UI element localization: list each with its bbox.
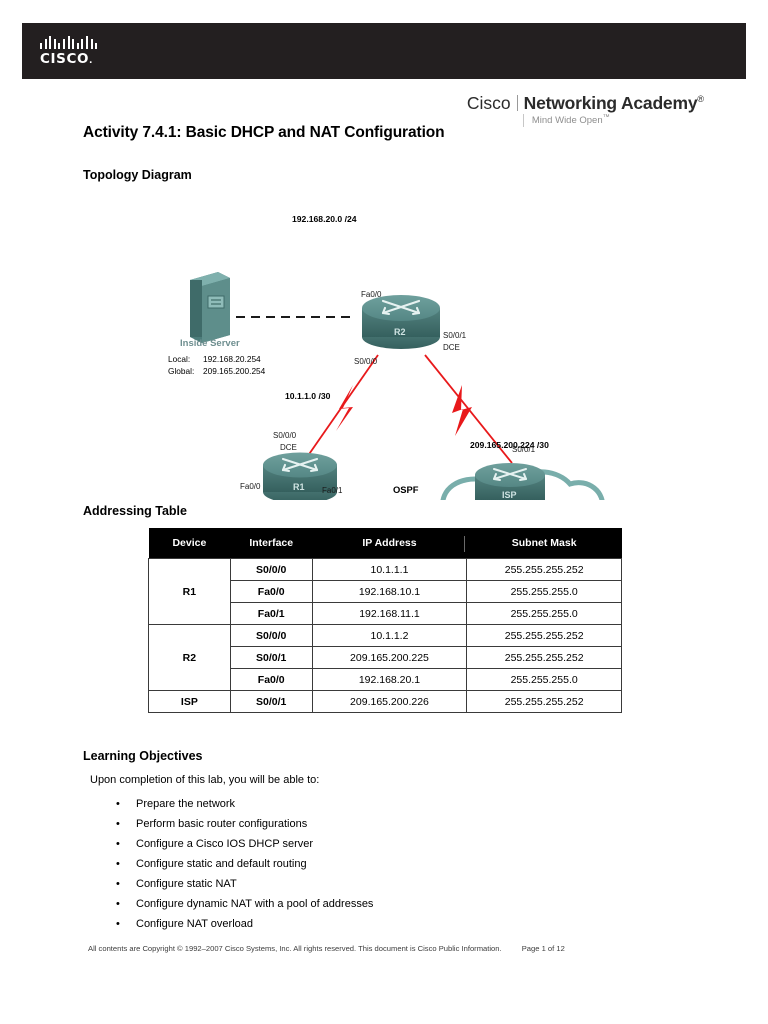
cell-device: R1 — [149, 559, 231, 625]
trademark-mark: ™ — [603, 114, 610, 121]
footer-page-number: Page 1 of 12 — [522, 944, 565, 953]
iface-r2-fa00: Fa0/0 — [361, 290, 382, 299]
cisco-bridge-logo-icon — [40, 36, 102, 49]
cell-ip: 192.168.20.1 — [312, 669, 467, 691]
cell-mask: 255.255.255.252 — [467, 625, 622, 647]
table-row: R2 S0/0/0 10.1.1.2 255.255.255.252 — [149, 625, 622, 647]
cisco-wordmark: CISCO. — [40, 51, 102, 67]
cell-interface: Fa0/1 — [230, 603, 312, 625]
server-local-label: Local: — [168, 354, 190, 364]
iface-r2-s001: S0/0/1 — [443, 331, 467, 340]
iface-r1-s000: S0/0/0 — [273, 431, 297, 440]
cell-interface: S0/0/1 — [230, 647, 312, 669]
footer-copyright: All contents are Copyright © 1992–2007 C… — [88, 944, 502, 953]
cell-interface: Fa0/0 — [230, 581, 312, 603]
cell-ip: 209.165.200.225 — [312, 647, 467, 669]
iface-r2-s001-dce: DCE — [443, 343, 460, 352]
registered-mark: ® — [697, 94, 704, 104]
table-row: R1 S0/0/0 10.1.1.1 255.255.255.252 — [149, 559, 622, 581]
addressing-table: Device Interface IP Address Subnet Mask … — [148, 528, 622, 713]
list-item: Configure dynamic NAT with a pool of add… — [108, 894, 373, 914]
cell-interface: Fa0/0 — [230, 669, 312, 691]
table-header-row: Device Interface IP Address Subnet Mask — [149, 528, 622, 559]
column-header-ip-address: IP Address — [312, 528, 467, 559]
column-header-subnet-mask: Subnet Mask — [467, 528, 622, 559]
lightning-bolt-r1-r2-icon — [336, 385, 353, 431]
device-r2 — [362, 295, 440, 349]
server-global-ip: 209.165.200.254 — [203, 366, 266, 376]
cell-ip: 192.168.10.1 — [312, 581, 467, 603]
cell-mask: 255.255.255.252 — [467, 691, 622, 713]
topology-diagram: Inside Server Local: 192.168.20.254 Glob… — [140, 180, 660, 500]
r1-label: R1 — [293, 482, 305, 492]
list-item: Prepare the network — [108, 794, 373, 814]
list-item: Configure NAT overload — [108, 914, 373, 934]
cell-mask: 255.255.255.0 — [467, 603, 622, 625]
academy-logo-line1: CiscoNetworking Academy® — [467, 94, 704, 112]
column-header-interface: Interface — [230, 528, 312, 559]
iface-isp-s001: S0/0/1 — [512, 445, 536, 454]
cell-device: ISP — [149, 691, 231, 713]
cell-interface: S0/0/1 — [230, 691, 312, 713]
iface-r1-s000-dce: DCE — [280, 443, 297, 452]
cell-ip: 192.168.11.1 — [312, 603, 467, 625]
cell-interface: S0/0/0 — [230, 559, 312, 581]
server-global-label: Global: — [168, 366, 194, 376]
academy-cisco-text: Cisco — [467, 93, 511, 113]
table-row: ISP S0/0/1 209.165.200.226 255.255.255.2… — [149, 691, 622, 713]
cell-device: R2 — [149, 625, 231, 691]
page-footer: All contents are Copyright © 1992–2007 C… — [88, 944, 565, 953]
list-item: Perform basic router configurations — [108, 814, 373, 834]
iface-r2-s000: S0/0/0 — [354, 357, 378, 366]
cisco-header-bar — [22, 23, 746, 79]
section-heading-objectives: Learning Objectives — [83, 749, 202, 763]
objectives-intro-text: Upon completion of this lab, you will be… — [90, 774, 319, 786]
iface-r1-fa00: Fa0/0 — [240, 482, 261, 491]
page-title: Activity 7.4.1: Basic DHCP and NAT Confi… — [83, 124, 445, 142]
academy-name-text: Networking Academy — [524, 93, 698, 113]
section-heading-addressing: Addressing Table — [83, 504, 187, 518]
cisco-logo: CISCO. — [40, 36, 102, 67]
list-item: Configure a Cisco IOS DHCP server — [108, 834, 373, 854]
cell-mask: 255.255.255.252 — [467, 647, 622, 669]
cell-ip: 10.1.1.2 — [312, 625, 467, 647]
addressing-table-body: R1 S0/0/0 10.1.1.1 255.255.255.252 Fa0/0… — [149, 559, 622, 713]
r2-label: R2 — [394, 327, 406, 337]
cell-mask: 255.255.255.0 — [467, 669, 622, 691]
academy-tagline: Mind Wide Open™ — [523, 114, 704, 126]
cell-ip: 209.165.200.226 — [312, 691, 467, 713]
list-item: Configure static and default routing — [108, 854, 373, 874]
cell-interface: S0/0/0 — [230, 625, 312, 647]
network-label-r1-r2: 10.1.1.0 /30 — [285, 391, 331, 401]
list-item: Configure static NAT — [108, 874, 373, 894]
network-label-server-lan: 192.168.20.0 /24 — [292, 214, 357, 224]
server-local-ip: 192.168.20.254 — [203, 354, 261, 364]
iface-r1-fa01: Fa0/1 — [322, 486, 343, 495]
network-label-r2-isp: 209.165.200.224 /30 — [470, 440, 549, 450]
academy-divider — [517, 95, 518, 111]
networking-academy-logo: CiscoNetworking Academy® Mind Wide Open™ — [467, 94, 704, 127]
cell-ip: 10.1.1.1 — [312, 559, 467, 581]
cell-mask: 255.255.255.0 — [467, 581, 622, 603]
cell-mask: 255.255.255.252 — [467, 559, 622, 581]
ospf-label: OSPF — [393, 484, 419, 495]
column-header-device: Device — [149, 528, 231, 559]
server-label: Inside Server — [180, 338, 240, 349]
device-inside-server — [190, 272, 230, 343]
objectives-list: Prepare the network Perform basic router… — [108, 794, 373, 934]
isp-label: ISP — [502, 490, 517, 500]
